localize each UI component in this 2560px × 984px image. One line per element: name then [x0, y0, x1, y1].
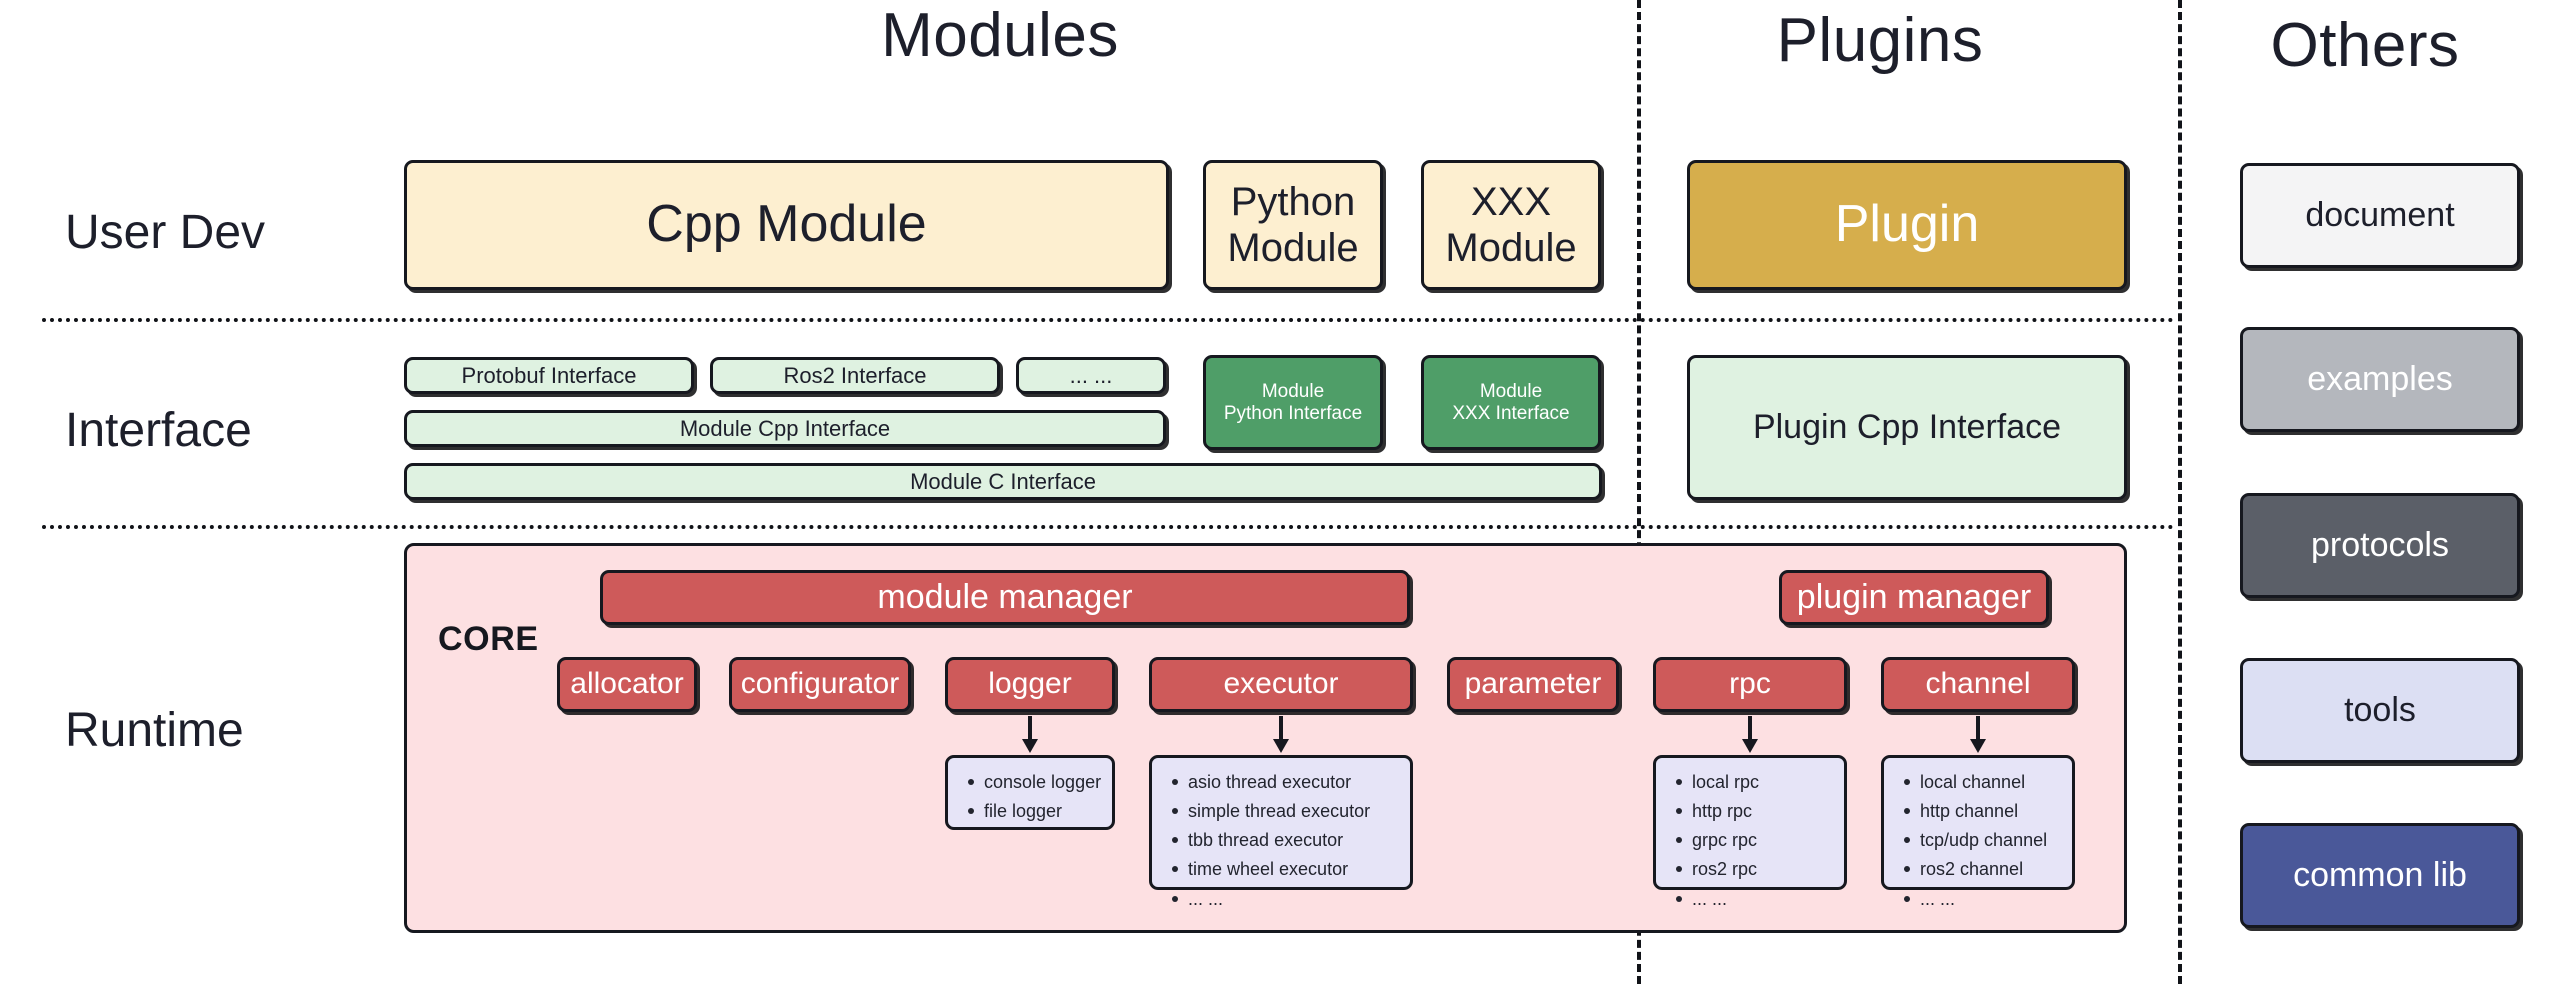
row-label-user-dev: User Dev: [65, 205, 265, 260]
others-item-common-lib[interactable]: common lib: [2240, 823, 2520, 928]
logger-items: console logger file logger: [962, 768, 1102, 826]
module-python-interface-box[interactable]: Module Python Interface: [1203, 355, 1383, 450]
row-label-interface: Interface: [65, 403, 252, 458]
protobuf-interface-box[interactable]: Protobuf Interface: [404, 357, 694, 394]
more-interface-box[interactable]: ... ...: [1016, 357, 1166, 394]
python-module-label-line1: Python: [1231, 179, 1356, 225]
component-logger[interactable]: logger: [945, 657, 1115, 712]
list-item: local rpc: [1692, 768, 1834, 797]
list-item: local channel: [1920, 768, 2062, 797]
divider-interface-runtime: [42, 525, 2175, 529]
component-rpc[interactable]: rpc: [1653, 657, 1847, 712]
list-item: tbb thread executor: [1188, 826, 1400, 855]
column-title-others: Others: [2200, 10, 2530, 81]
divider-plugins-others: [2178, 0, 2182, 984]
executor-detail-list: asio thread executor simple thread execu…: [1149, 755, 1413, 890]
rpc-items: local rpc http rpc grpc rpc ros2 rpc ...…: [1670, 768, 1834, 914]
channel-items: local channel http channel tcp/udp chann…: [1898, 768, 2062, 914]
module-python-interface-label-line2: Python Interface: [1224, 403, 1362, 425]
list-item: ... ...: [1188, 885, 1400, 914]
module-python-interface-label-line1: Module: [1262, 381, 1324, 403]
list-item: http rpc: [1692, 797, 1834, 826]
list-item: console logger: [984, 768, 1102, 797]
list-item: simple thread executor: [1188, 797, 1400, 826]
logger-detail-list: console logger file logger: [945, 755, 1115, 830]
list-item: ... ...: [1920, 885, 2062, 914]
list-item: ... ...: [1692, 885, 1834, 914]
architecture-diagram: Modules Plugins Others User Dev Interfac…: [0, 0, 2560, 984]
component-allocator[interactable]: allocator: [557, 657, 697, 712]
channel-detail-list: local channel http channel tcp/udp chann…: [1881, 755, 2075, 890]
component-configurator[interactable]: configurator: [729, 657, 911, 712]
arrow-rpc-down: [1730, 716, 1770, 754]
executor-items: asio thread executor simple thread execu…: [1166, 768, 1400, 914]
ros2-interface-box[interactable]: Ros2 Interface: [710, 357, 1000, 394]
rpc-detail-list: local rpc http rpc grpc rpc ros2 rpc ...…: [1653, 755, 1847, 890]
list-item: asio thread executor: [1188, 768, 1400, 797]
python-module-label-line2: Module: [1227, 225, 1358, 271]
module-xxx-interface-label-line1: Module: [1480, 381, 1542, 403]
list-item: time wheel executor: [1188, 855, 1400, 884]
module-xxx-interface-box[interactable]: Module XXX Interface: [1421, 355, 1601, 450]
plugin-cpp-interface-box[interactable]: Plugin Cpp Interface: [1687, 355, 2127, 500]
list-item: tcp/udp channel: [1920, 826, 2062, 855]
xxx-module-label-line1: XXX: [1471, 179, 1551, 225]
core-label: CORE: [438, 620, 539, 659]
column-title-plugins: Plugins: [1650, 5, 2110, 76]
python-module-box[interactable]: Python Module: [1203, 160, 1383, 290]
divider-userdev-interface: [42, 318, 2175, 322]
module-cpp-interface-box[interactable]: Module Cpp Interface: [404, 410, 1166, 447]
list-item: file logger: [984, 797, 1102, 826]
list-item: http channel: [1920, 797, 2062, 826]
xxx-module-box[interactable]: XXX Module: [1421, 160, 1601, 290]
plugin-box[interactable]: Plugin: [1687, 160, 2127, 290]
column-title-modules: Modules: [760, 0, 1240, 71]
module-manager-box[interactable]: module manager: [600, 570, 1410, 625]
module-xxx-interface-label-line2: XXX Interface: [1452, 403, 1569, 425]
plugin-manager-box[interactable]: plugin manager: [1779, 570, 2049, 625]
others-item-protocols[interactable]: protocols: [2240, 493, 2520, 598]
arrow-executor-down: [1261, 716, 1301, 754]
component-parameter[interactable]: parameter: [1447, 657, 1619, 712]
others-item-document[interactable]: document: [2240, 163, 2520, 268]
cpp-module-box[interactable]: Cpp Module: [404, 160, 1169, 290]
arrow-channel-down: [1958, 716, 1998, 754]
component-channel[interactable]: channel: [1881, 657, 2075, 712]
list-item: ros2 channel: [1920, 855, 2062, 884]
row-label-runtime: Runtime: [65, 703, 244, 758]
xxx-module-label-line2: Module: [1445, 225, 1576, 271]
others-item-tools[interactable]: tools: [2240, 658, 2520, 763]
list-item: ros2 rpc: [1692, 855, 1834, 884]
others-item-examples[interactable]: examples: [2240, 327, 2520, 432]
arrow-logger-down: [1010, 716, 1050, 754]
module-c-interface-box[interactable]: Module C Interface: [404, 463, 1602, 500]
component-executor[interactable]: executor: [1149, 657, 1413, 712]
list-item: grpc rpc: [1692, 826, 1834, 855]
